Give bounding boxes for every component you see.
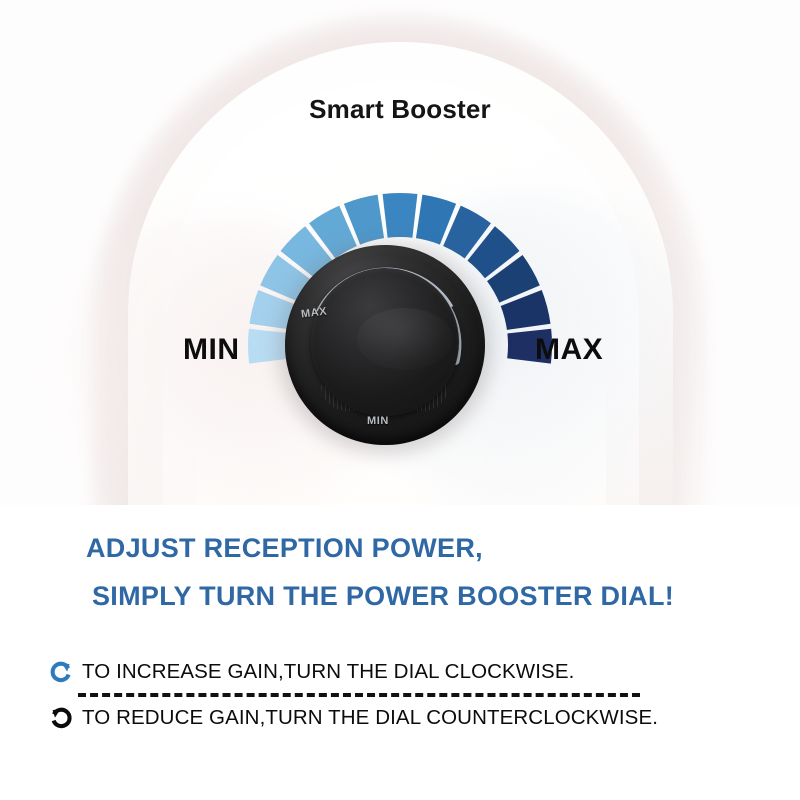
- knob-inner-cap[interactable]: [311, 268, 459, 416]
- scale-label-max: MAX: [535, 333, 603, 367]
- scale-label-min: MIN: [183, 333, 240, 367]
- headline-block: ADJUST RECEPTION POWER, SIMPLY TURN THE …: [0, 524, 800, 620]
- product-infographic-page: Smart Booster MIN MAX MAX MIN ADJ: [0, 0, 800, 800]
- instruction-row-reduce: TO REDUCE GAIN,TURN THE DIAL COUNTERCLOC…: [48, 701, 752, 735]
- power-booster-dial[interactable]: MAX MIN: [285, 245, 485, 445]
- instruction-row-increase: TO INCREASE GAIN,TURN THE DIAL CLOCKWISE…: [48, 655, 752, 689]
- gauge-segment: [383, 193, 418, 238]
- clockwise-rotate-arrow-icon: [48, 659, 82, 685]
- product-title: Smart Booster: [0, 94, 800, 125]
- knob-sheen: [357, 308, 453, 370]
- headline-line-1: ADJUST RECEPTION POWER,: [86, 524, 800, 572]
- knob-marker-min: MIN: [367, 415, 389, 427]
- instruction-text-reduce: TO REDUCE GAIN,TURN THE DIAL COUNTERCLOC…: [82, 706, 658, 730]
- instructions-block: TO INCREASE GAIN,TURN THE DIAL CLOCKWISE…: [48, 655, 752, 735]
- product-photo: Smart Booster MIN MAX MAX MIN: [0, 0, 800, 505]
- headline-line-2: SIMPLY TURN THE POWER BOOSTER DIAL!: [92, 572, 800, 620]
- dashed-divider: [78, 693, 640, 697]
- counterclockwise-rotate-arrow-icon: [48, 705, 82, 731]
- instruction-text-increase: TO INCREASE GAIN,TURN THE DIAL CLOCKWISE…: [82, 660, 574, 684]
